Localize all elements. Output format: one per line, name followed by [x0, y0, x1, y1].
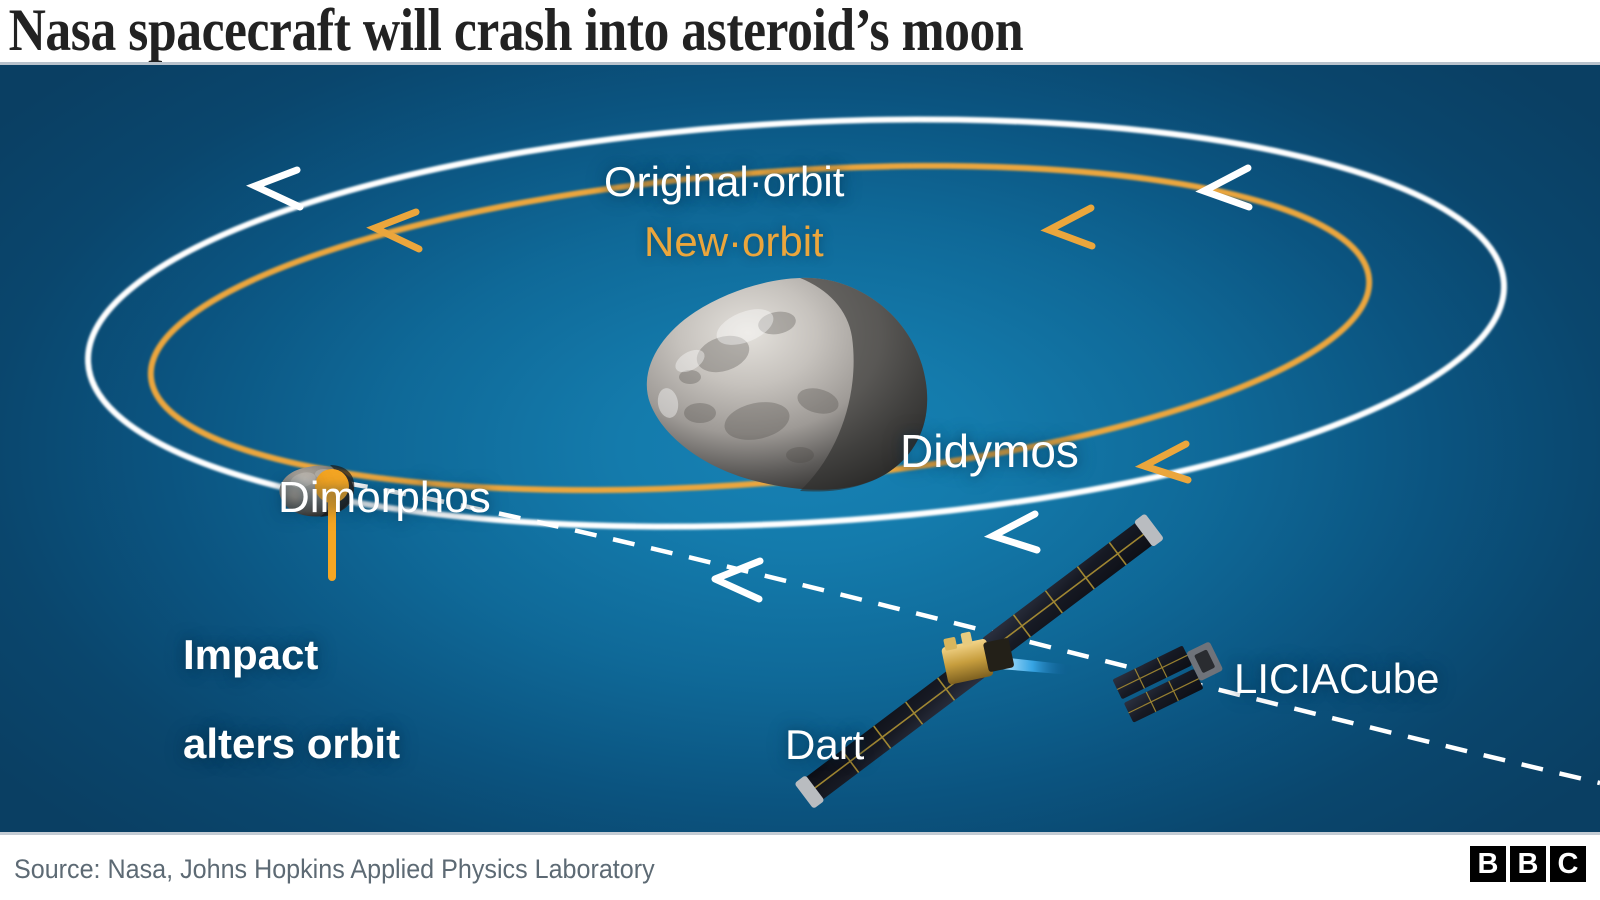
label-original-orbit: Original·orbit	[604, 160, 844, 205]
page-title: Nasa spacecraft will crash into asteroid…	[0, 0, 1023, 60]
footer: Source: Nasa, Johns Hopkins Applied Phys…	[0, 832, 1600, 900]
arrow-head-trajectory	[715, 561, 760, 599]
arrow-head-white-bottom	[993, 514, 1037, 550]
bbc-logo-letter-3: C	[1550, 846, 1586, 882]
didymos-asteroid	[647, 278, 927, 492]
arrow-head-orange-topright	[1049, 208, 1092, 246]
label-impact-alters-orbit: Impact alters orbit	[113, 588, 400, 811]
label-dart: Dart	[785, 723, 864, 768]
diagram-stage: Original·orbit New·orbit Didymos Dimorph…	[0, 65, 1600, 832]
dart-trajectory-path	[346, 483, 1600, 783]
footer-divider	[0, 832, 1600, 835]
bbc-logo-letter-1: B	[1470, 846, 1506, 882]
label-didymos: Didymos	[900, 427, 1079, 476]
infographic: Nasa spacecraft will crash into asteroid…	[0, 0, 1600, 900]
bbc-logo-letter-2: B	[1510, 846, 1546, 882]
source-credit: Source: Nasa, Johns Hopkins Applied Phys…	[14, 854, 655, 885]
label-liciacube: LICIACube	[1234, 657, 1439, 702]
label-impact-line1: Impact	[183, 631, 318, 678]
label-dimorphos: Dimorphos	[278, 475, 491, 522]
arrow-head-white-topleft	[255, 170, 300, 207]
arrow-head-orange-bottomright	[1144, 444, 1188, 480]
label-new-orbit: New·orbit	[644, 220, 824, 265]
header: Nasa spacecraft will crash into asteroid…	[0, 0, 1600, 62]
bbc-logo: B B C	[1470, 846, 1586, 882]
arrow-head-white-topright	[1204, 168, 1249, 207]
liciacube-spacecraft	[1112, 634, 1227, 723]
label-impact-line2: alters orbit	[183, 720, 400, 767]
